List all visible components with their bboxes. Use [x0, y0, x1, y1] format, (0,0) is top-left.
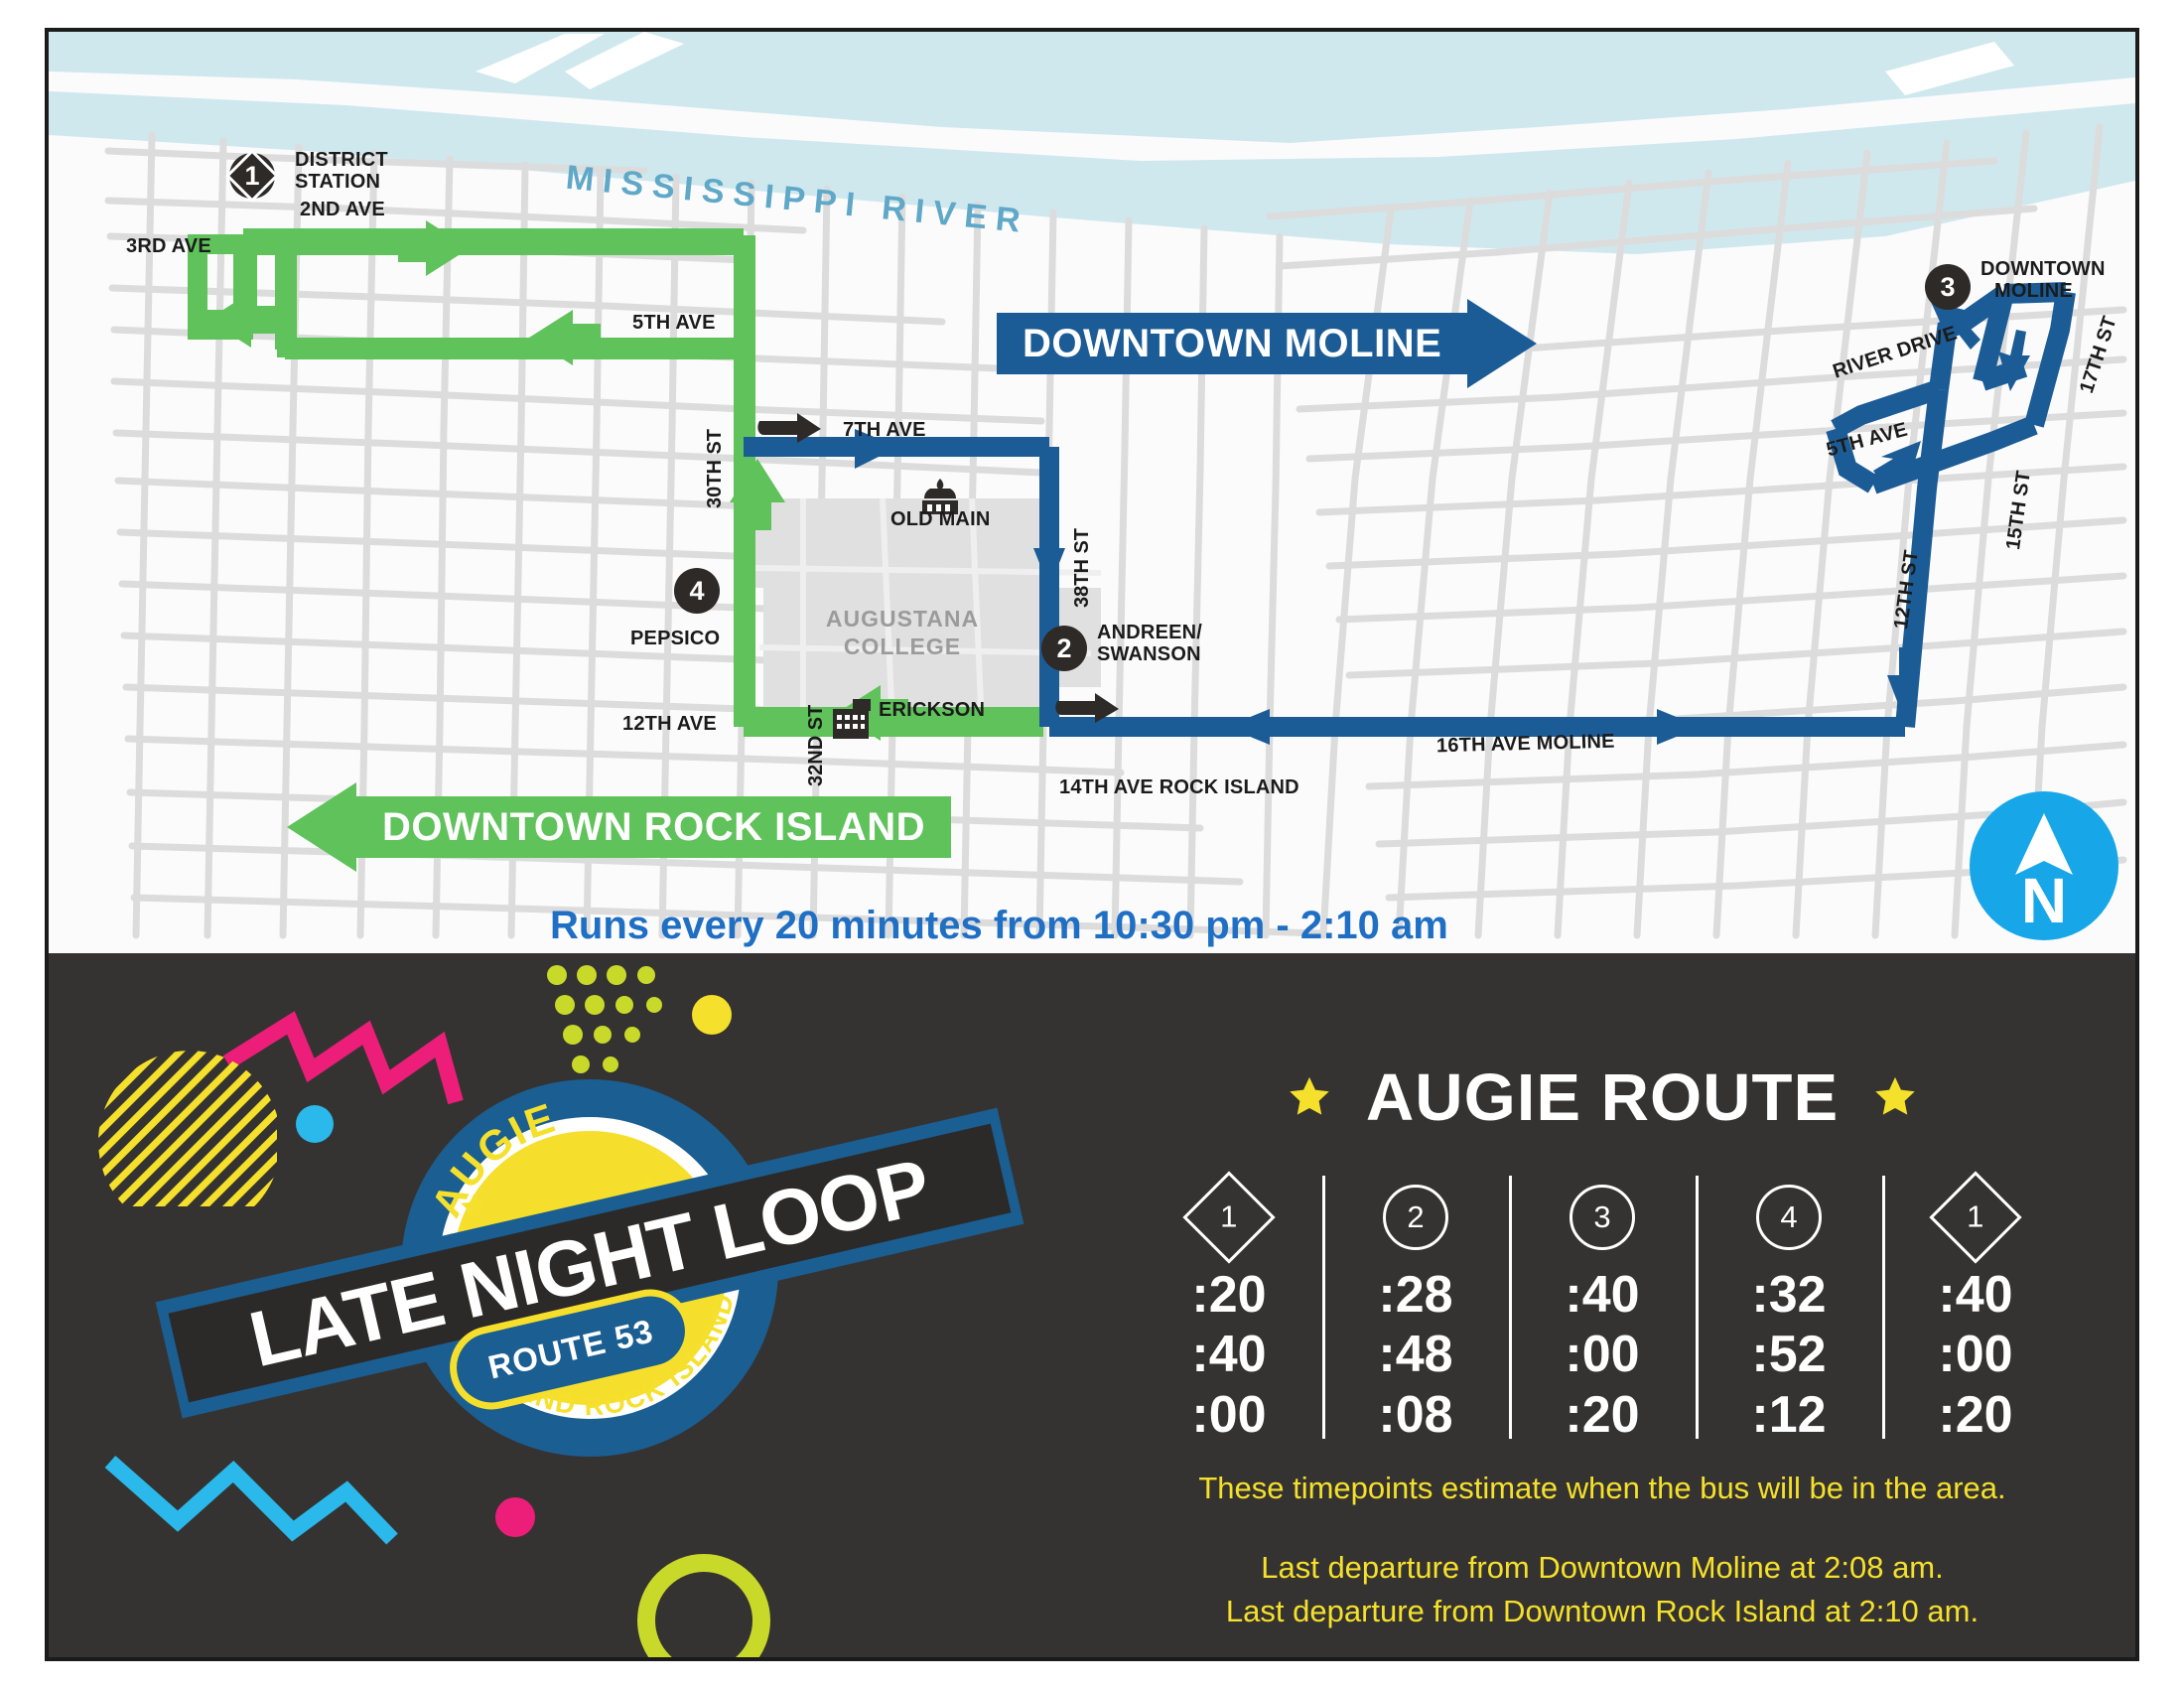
- banner-arrow-left-icon: [287, 782, 356, 872]
- banner-downtown-rock-island-label: DOWNTOWN ROCK ISLAND: [356, 796, 951, 858]
- pink-dot-icon: [495, 1497, 535, 1537]
- timepoint-header-4: 4: [1696, 1170, 1882, 1265]
- banner-downtown-moline-label: DOWNTOWN MOLINE: [997, 313, 1467, 374]
- stop-marker-2[interactable]: 2: [1041, 626, 1087, 671]
- stop-3-label-line1: DOWNTOWN: [1980, 258, 2106, 281]
- stop-2-label-line1: ANDREEN/: [1097, 622, 1202, 644]
- stop-marker-4[interactable]: 4: [674, 568, 720, 614]
- last-departure-rock-island: Last departure from Downtown Rock Island…: [1136, 1590, 2069, 1633]
- timetable-column-1: 1 :20 :40 :00: [1136, 1170, 1322, 1445]
- timepoint-label-5: 1: [1967, 1199, 1983, 1235]
- stop-3-label-line2: MOLINE: [1994, 280, 2073, 303]
- timepoint-header-1: 1: [1136, 1170, 1322, 1265]
- timepoint-circle-3: 3: [1570, 1185, 1635, 1250]
- cyan-dot-icon: [296, 1105, 334, 1143]
- street-label-30th-st: 30TH ST: [704, 429, 727, 508]
- old-main-label: OLD MAIN: [890, 508, 990, 531]
- time-2-0: :28: [1322, 1265, 1509, 1325]
- timepoint-circle-4: 4: [1756, 1185, 1822, 1250]
- time-1-0: :20: [1136, 1265, 1322, 1325]
- street-label-5th-ave: 5TH AVE: [632, 312, 716, 335]
- timetable-title: AUGIE ROUTE: [1366, 1059, 1839, 1136]
- stop-3-number: 3: [1940, 272, 1955, 303]
- compass-rose: N: [1970, 791, 2118, 940]
- stop-1-label-line2: STATION: [295, 171, 380, 194]
- time-3-1: :00: [1509, 1325, 1696, 1384]
- star-icon-right: [1872, 1075, 1918, 1121]
- timepoint-header-2: 2: [1322, 1170, 1509, 1265]
- time-2-2: :08: [1322, 1385, 1509, 1445]
- timetable-title-row: AUGIE ROUTE: [1136, 1059, 2069, 1136]
- time-5-2: :20: [1882, 1385, 2069, 1445]
- banner-arrow-right-icon: [1467, 299, 1537, 388]
- svg-text:AUGIE: AUGIE: [422, 1094, 561, 1224]
- lime-ring-icon: [646, 1563, 761, 1657]
- timepoint-diamond-1: 1: [1182, 1171, 1275, 1263]
- time-5-0: :40: [1882, 1265, 2069, 1325]
- time-1-2: :00: [1136, 1385, 1322, 1445]
- street-label-32nd-st: 32ND ST: [805, 705, 828, 786]
- timepoint-header-3: 3: [1509, 1170, 1696, 1265]
- banner-downtown-moline: DOWNTOWN MOLINE: [997, 313, 1537, 374]
- stop-1-number: 1: [244, 161, 259, 192]
- timetable-column-3: 3 :40 :00 :20: [1509, 1170, 1696, 1445]
- street-label-16th-ave-moline: 16TH AVE MOLINE: [1436, 731, 1615, 759]
- timetable-note: These timepoints estimate when the bus w…: [1136, 1471, 2069, 1506]
- info-panel: AUGIE MOLINE AND ROCK ISLAND LATE NIGHT …: [49, 953, 2135, 1657]
- stop-2-number: 2: [1056, 633, 1071, 664]
- stop-4-label: PEPSICO: [630, 628, 720, 650]
- timepoint-circle-2: 2: [1383, 1185, 1448, 1250]
- star-icon-left: [1287, 1075, 1332, 1121]
- street-label-7th-ave: 7TH AVE: [843, 419, 926, 442]
- time-3-0: :40: [1509, 1265, 1696, 1325]
- yellow-dot-icon: [692, 995, 732, 1035]
- timepoint-label-1: 1: [1220, 1199, 1237, 1235]
- street-label-2nd-ave: 2ND AVE: [300, 199, 385, 221]
- route-map-poster: MISSISSIPPI RIVER 1 DISTRICT STATION 2 A…: [0, 0, 2184, 1688]
- timetable-column-5: 1 :40 :00 :20: [1882, 1170, 2069, 1445]
- route-number-label: ROUTE 53: [484, 1312, 657, 1386]
- timetable-column-2: 2 :28 :48 :08: [1322, 1170, 1509, 1445]
- stop-4-number: 4: [689, 576, 704, 607]
- route-map[interactable]: MISSISSIPPI RIVER 1 DISTRICT STATION 2 A…: [49, 32, 2135, 953]
- poster-frame: MISSISSIPPI RIVER 1 DISTRICT STATION 2 A…: [45, 28, 2139, 1661]
- time-2-1: :48: [1322, 1325, 1509, 1384]
- street-label-3rd-ave: 3RD AVE: [126, 235, 211, 258]
- time-4-2: :12: [1696, 1385, 1882, 1445]
- time-4-0: :32: [1696, 1265, 1882, 1325]
- cyan-zigzag-icon: [110, 1462, 392, 1539]
- time-5-1: :00: [1882, 1325, 2069, 1384]
- frequency-text: Runs every 20 minutes from 10:30 pm - 2:…: [550, 904, 1448, 948]
- street-label-14th-ave-rock-island: 14TH AVE ROCK ISLAND: [1059, 776, 1299, 799]
- banner-downtown-rock-island: DOWNTOWN ROCK ISLAND: [287, 796, 951, 858]
- stop-marker-3[interactable]: 3: [1925, 264, 1971, 310]
- timepoint-header-5: 1: [1882, 1170, 2069, 1265]
- timetable-grid: 1 :20 :40 :00 2 :28 :48 :08 3: [1136, 1170, 2069, 1445]
- compass-north-label: N: [1970, 869, 2118, 932]
- erickson-label: ERICKSON: [879, 699, 985, 722]
- logo-top-arc-text: AUGIE: [422, 1094, 561, 1224]
- timetable: AUGIE ROUTE 1 :20 :40 :00 2 :28: [1136, 1059, 2069, 1633]
- street-label-38th-st: 38TH ST: [1071, 528, 1094, 608]
- timepoint-diamond-5: 1: [1929, 1171, 2021, 1263]
- last-departure-moline: Last departure from Downtown Moline at 2…: [1136, 1546, 2069, 1590]
- street-label-12th-ave: 12TH AVE: [622, 713, 717, 736]
- time-3-2: :20: [1509, 1385, 1696, 1445]
- augustana-college-label: AUGUSTANACOLLEGE: [773, 606, 1031, 660]
- stop-2-label-line2: SWANSON: [1097, 643, 1201, 666]
- timetable-column-4: 4 :32 :52 :12: [1696, 1170, 1882, 1445]
- last-departures: Last departure from Downtown Moline at 2…: [1136, 1546, 2069, 1633]
- time-1-1: :40: [1136, 1325, 1322, 1384]
- stop-marker-1[interactable]: 1: [229, 153, 275, 199]
- time-4-1: :52: [1696, 1325, 1882, 1384]
- stop-1-label-line1: DISTRICT: [295, 149, 388, 172]
